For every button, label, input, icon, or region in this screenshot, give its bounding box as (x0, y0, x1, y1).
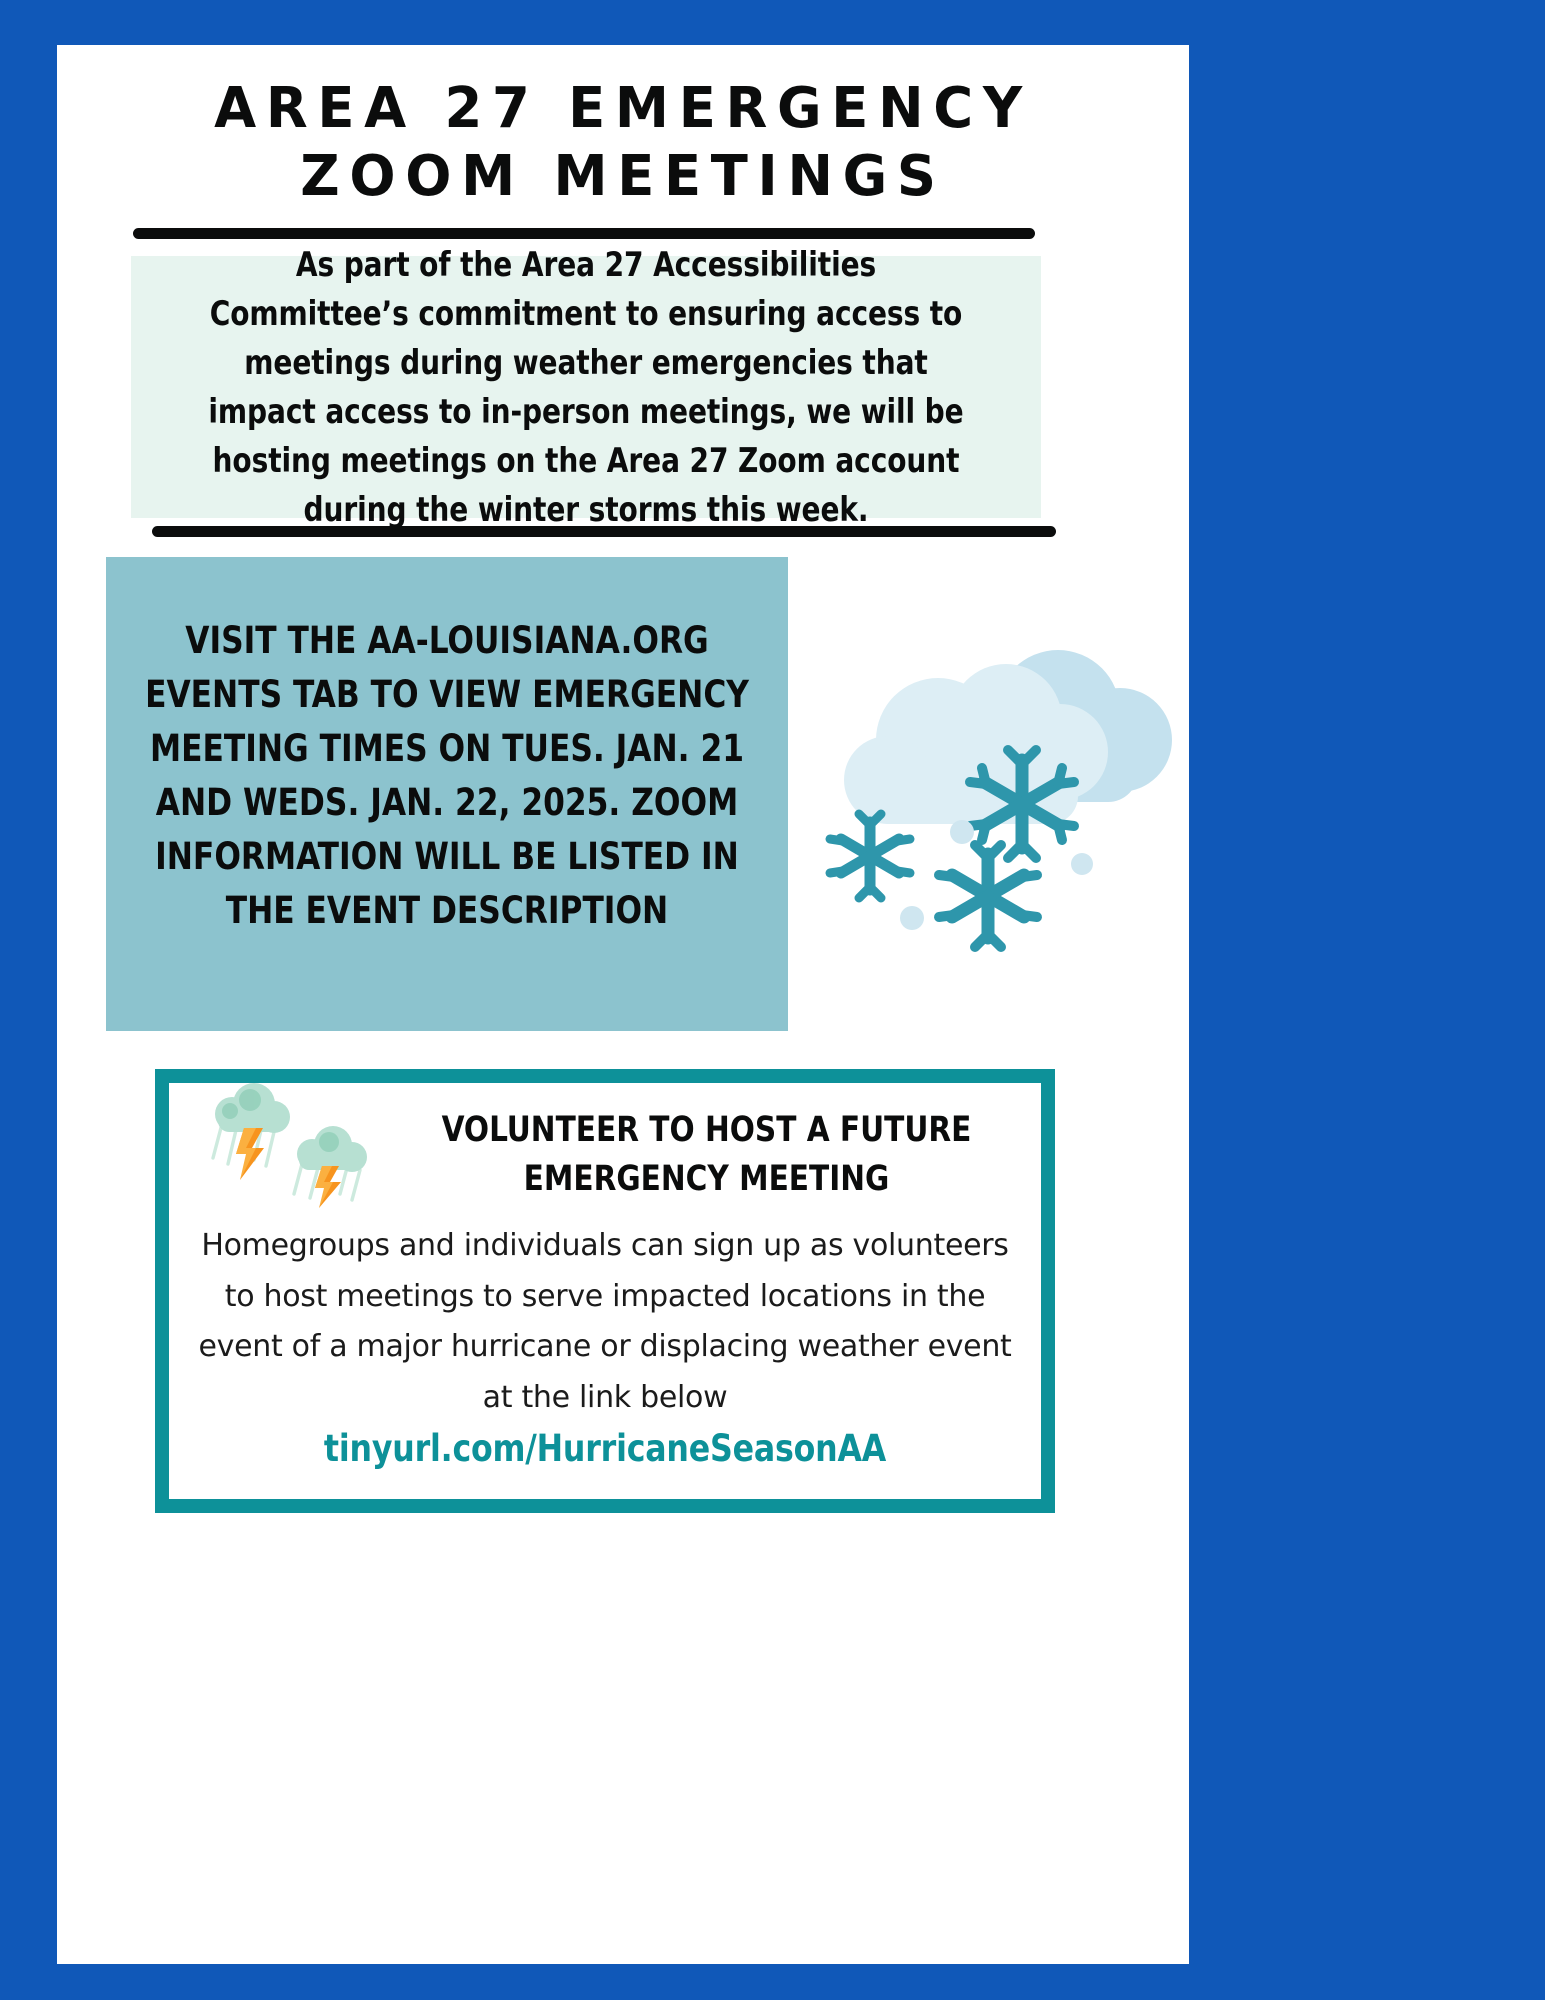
thunderstorm-cloud-icon (200, 1080, 385, 1210)
info-panel: VISIT THE AA-LOUISIANA.ORG EVENTS TAB TO… (106, 557, 788, 1031)
page-title-line-1: AREA 27 EMERGENCY (74, 75, 1172, 143)
intro-panel: As part of the Area 27 Accessibilities C… (131, 256, 1041, 518)
poster-frame: AREA 27 EMERGENCY ZOOM MEETINGS As part … (0, 0, 1545, 2000)
divider-rule-top (133, 228, 1035, 239)
volunteer-signup-link[interactable]: tinyurl.com/HurricaneSeasonAA (212, 1427, 999, 1471)
page-title: AREA 27 EMERGENCY ZOOM MEETINGS (57, 75, 1189, 211)
volunteer-heading: VOLUNTEER TO HOST A FUTURE EMERGENCY MEE… (403, 1106, 1009, 1204)
snow-cloud-icon (810, 620, 1180, 960)
info-panel-text: VISIT THE AA-LOUISIANA.ORG EVENTS TAB TO… (126, 614, 767, 938)
page-title-line-2: ZOOM MEETINGS (74, 143, 1172, 211)
volunteer-body: Homegroups and individuals can sign up a… (191, 1221, 1019, 1423)
divider-rule-bottom (152, 526, 1056, 537)
intro-paragraph: As part of the Area 27 Accessibilities C… (196, 240, 975, 534)
